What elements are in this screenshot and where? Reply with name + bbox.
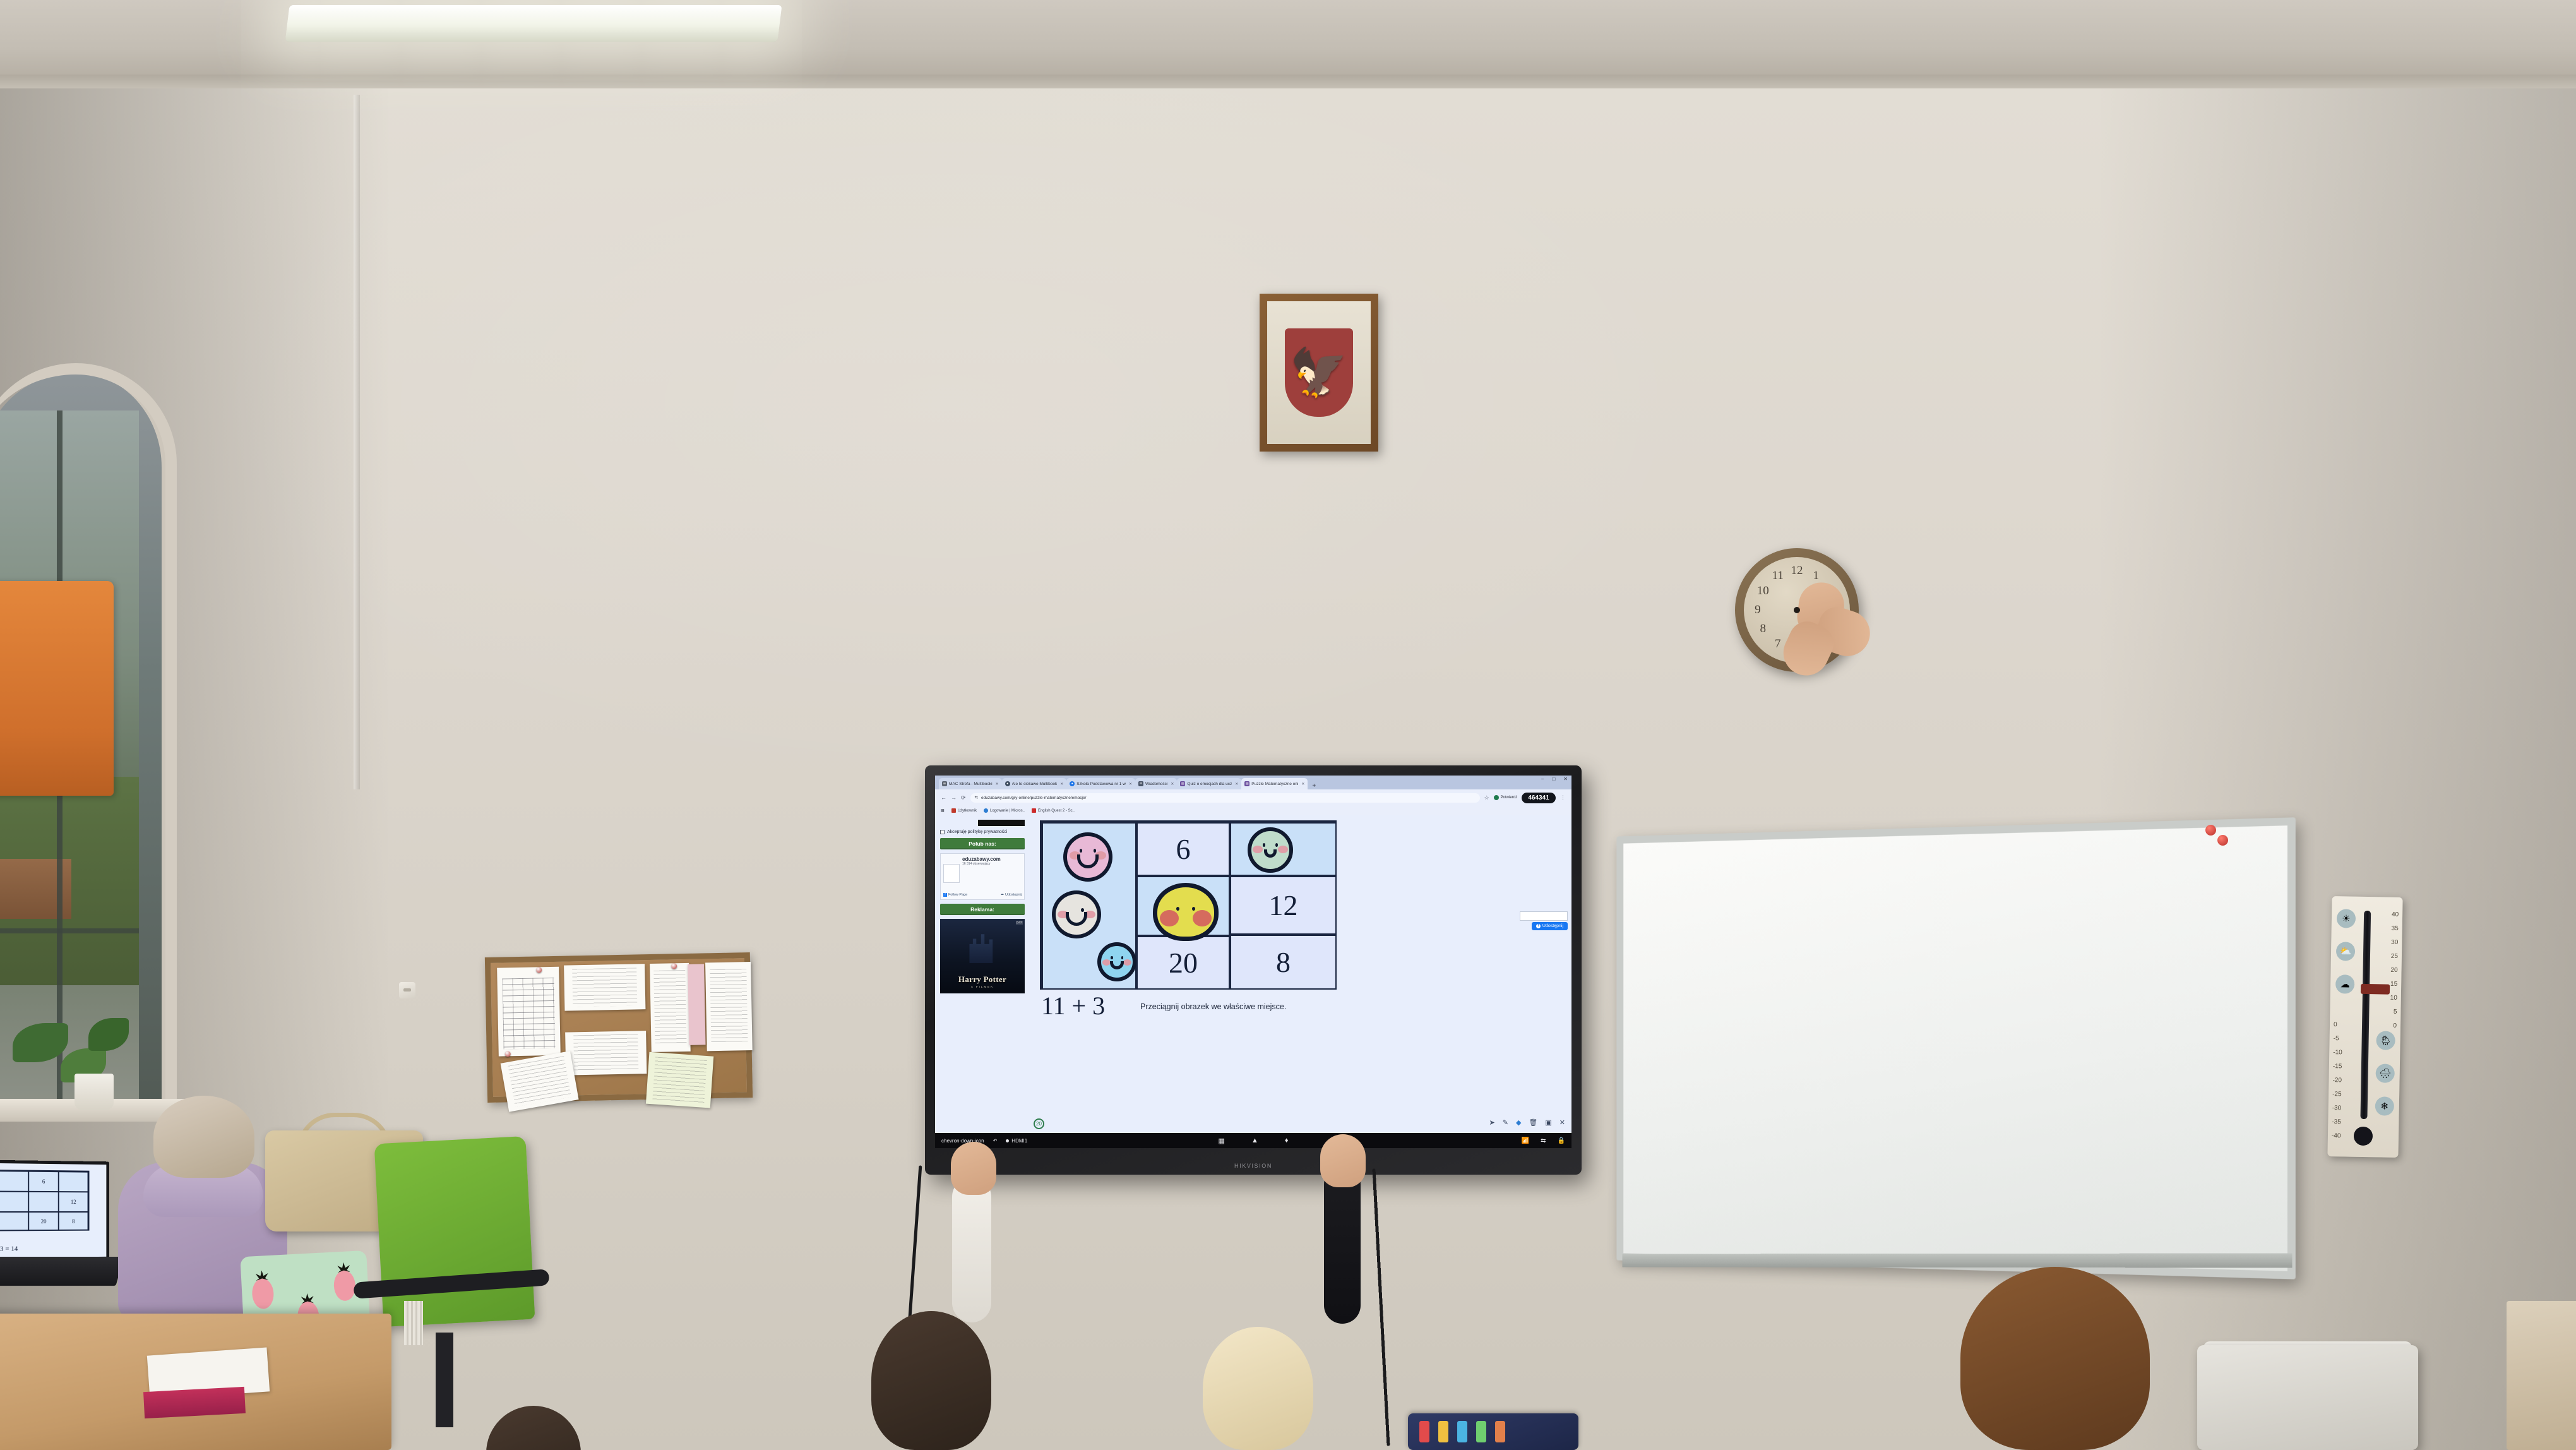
whiteboard-magnet [2217,835,2228,846]
puzzle-number: 12 [1269,889,1298,922]
thermometer-bulb [2354,1127,2373,1146]
noticeboard-calendar-1 [564,964,645,1010]
profile-chip[interactable]: Potwierdź [1494,795,1517,800]
pineapple-motif [251,1278,274,1310]
pencil-case-stripe [1438,1421,1448,1442]
raised-arm [952,1177,991,1322]
thermo-tick: -20 [2332,1077,2342,1084]
noticeboard [485,952,753,1103]
wall-thermometer: ☀ ⛅ ☁ 🌦 🌧 ❄ 40 35 30 25 20 15 10 5 0 0 -… [2327,896,2402,1158]
thermo-tick: 5 [2394,1009,2397,1016]
whiteboard [1616,817,2295,1279]
smile [1077,854,1099,868]
clock-numeral: 12 [1791,564,1803,578]
bookmark-item[interactable]: Użytkownik [951,808,977,813]
screenshot-icon[interactable]: ▣ [1545,1118,1551,1127]
lock-icon[interactable]: 🔒 [1558,1137,1565,1144]
display-os-bar[interactable]: chevron-down-icon ↶ HDMI1 ▦ ▲ ♦ 📶 ⇆ 🔒 [935,1133,1571,1148]
cheek [1160,910,1179,927]
laptop-cell [0,1171,28,1192]
os-bar-left[interactable]: chevron-down-icon ↶ HDMI1 [941,1138,1027,1144]
math-puzzle-board[interactable]: 6 12 20 8 [1040,820,1337,991]
highlighter-icon[interactable]: ◆ [1516,1118,1521,1127]
redacted-bar [978,820,1025,826]
thermo-tick: -30 [2332,1105,2342,1111]
noticeboard-sticker-strip [688,964,705,1045]
privacy-checkbox[interactable] [940,830,945,834]
noticeboard-paper-schedule [497,967,561,1057]
mail-icon: ✉ [1138,781,1143,786]
noticeboard-calendar-2 [565,1031,647,1075]
eye [1176,907,1179,911]
ad-castle-graphic [965,930,999,963]
adult-hair [153,1096,254,1178]
bookmark-label: Użytkownik [958,809,977,813]
laptop-mini-puzzle: 6 12 20 8 [0,1170,89,1231]
hdmi-label: HDMI1 [1011,1138,1027,1144]
apps-grid-icon[interactable]: ▦ [1219,1137,1225,1145]
clock-face: 12 1 2 3 4 5 6 7 8 9 10 11 [1744,557,1850,663]
back-arrow-icon[interactable]: ↶ [993,1138,998,1144]
form-icon: ▤ [1180,781,1185,786]
browser-tab-active[interactable]: ▤ Puzzle Matematyczne oni ✕ [1241,778,1308,789]
student-head [871,1311,991,1450]
tab-label: Ale to ciekawe Multibook [1012,782,1058,786]
bookmarks-bar[interactable]: ▦ Użytkownik Logowanie | Micros.. Englis… [935,806,1571,815]
os-bar-center[interactable]: ▦ ▲ ♦ [1219,1137,1289,1145]
ad-subtitle: A FILMEK [971,985,994,988]
webpage-content[interactable]: Akceptuję politykę prywatności Polub nas… [935,815,1571,1133]
bookmark-item[interactable]: English Quest 2 - Sc.. [1032,808,1075,813]
window-controls[interactable]: − □ ✕ [1541,776,1568,782]
share-label: Udostępnij [1542,924,1563,928]
puzzle-number: 20 [1169,946,1198,980]
laptop-cell: 20 [28,1212,59,1231]
thermo-tick: -5 [2334,1035,2339,1042]
clock-numeral: 11 [1772,569,1784,583]
apps-grid-icon[interactable]: ▦ [941,808,945,813]
raised-arm [1324,1166,1361,1324]
bookmark-label: English Quest 2 - Sc.. [1038,809,1075,813]
url-text: eduzabawy.com/gry-online/puzzle-matematy… [981,796,1086,800]
close-icon[interactable]: ✕ [1171,782,1174,786]
facebook-icon: f [1536,924,1541,928]
puzzle-cell-r2c3[interactable]: 12 [1230,876,1337,935]
sun-icon: ☀ [2337,909,2356,928]
thermometer-reading-marker [2361,984,2390,995]
clock-center-pin [1794,607,1800,613]
ad-title: Harry Potter [958,974,1006,985]
eagle-icon: 🦅 [1290,349,1348,396]
clock-numeral: 10 [1757,584,1769,598]
tab-label: Szkoła Podstawowa nr 1 w [1076,782,1126,786]
thermo-tick: -15 [2333,1063,2342,1070]
clock-numeral: 1 [1813,569,1819,583]
pencil-case-stripe [1457,1421,1467,1442]
facebook-page-name: eduzabawy.com [962,856,1022,862]
thermo-tick: 35 [2392,925,2399,932]
privacy-label: Akceptuję politykę prywatności [947,830,1007,834]
browser-tab[interactable]: ▤ Quiz o emocjach dla ucz ✕ [1177,778,1241,789]
back-arrow-icon[interactable]: ← [941,794,946,801]
cloud-icon: ☁ [2335,974,2355,994]
thermo-tick: 40 [2392,911,2399,918]
facebook-thumbnail [943,864,960,883]
chair-column [436,1333,453,1427]
pencil-case [1408,1413,1578,1450]
laptop-cell: 6 [28,1171,59,1192]
thermo-tick: 10 [2390,995,2397,1002]
sun-cloud-icon: ⛅ [2336,942,2356,961]
advertisement-header: Reklama: [940,904,1025,915]
eye [1263,843,1265,846]
laptop-cell: 8 [59,1212,88,1231]
display-brand-label: HIKVISION [1234,1163,1272,1169]
student-front-left [871,1286,1035,1450]
page-sidebar[interactable]: Akceptuję politykę prywatności Polub nas… [935,815,1030,1133]
thermo-tick: 0 [2393,1022,2397,1029]
share-arrow-icon: ➦ [1001,893,1004,897]
thermo-tick: -35 [2332,1118,2341,1125]
snow-icon: ❄ [2375,1096,2395,1116]
puzzle-number: 6 [1176,832,1191,866]
student-front-center [1203,1292,1392,1450]
book-icon: ☰ [942,781,947,786]
address-bar[interactable]: ⇆ eduzabawy.com/gry-online/puzzle-matema… [970,793,1480,803]
score-badge: 464341 [1522,793,1556,803]
close-icon[interactable]: ✕ [996,782,999,786]
laptop-cell [28,1192,59,1212]
bookmark-favicon [951,808,956,813]
noticeboard-document-2 [705,962,753,1051]
kebab-menu-icon[interactable]: ⋮ [1560,794,1566,801]
facebook-follow-label: Follow Page [948,893,967,897]
display-screen[interactable]: ☰ MAC Strefa - Multibooki ✕ ● Ale to cie… [935,776,1571,1148]
pointer-icon[interactable]: ➤ [1489,1118,1495,1127]
raised-hand [951,1142,996,1195]
close-icon[interactable]: ✕ [1129,782,1132,786]
bookmark-favicon [984,808,988,813]
pencil-case-stripe [1495,1421,1505,1442]
home-icon[interactable]: ▲ [1251,1137,1258,1144]
wall-corner [354,95,360,789]
thermo-tick: -25 [2332,1091,2342,1098]
bookmark-label: Logowanie | Micros.. [990,809,1025,813]
cheek [1123,959,1131,966]
cheek [1193,910,1212,927]
annotation-toolbar[interactable]: ➤ ✎ ◆ 🗑 ▣ ✕ [1489,1118,1566,1127]
page-counter-badge: 20 [1034,1118,1044,1129]
privacy-consent-row[interactable]: Akceptuję politykę prywatności [940,830,1025,834]
ad-choices-icon[interactable]: ▷D [1016,921,1023,925]
browser-tab[interactable]: ● Ale to ciekawe Multibook ✕ [1002,778,1067,789]
laptop-cell [0,1192,28,1212]
polish-coat-of-arms-frame: 🦅 [1260,294,1378,452]
laptop-cell [59,1171,88,1192]
student-far-left-partial [486,1381,587,1450]
bookmark-item[interactable]: Logowanie | Micros.. [984,808,1025,813]
eye [1192,907,1195,911]
profile-label: Potwierdź [1501,796,1517,800]
pencil-case-stripe [1476,1421,1486,1442]
emoji-tile-pink[interactable] [1063,832,1112,882]
browser-omnibar[interactable]: ← → ⟳ ⇆ eduzabawy.com/gry-online/puzzle-… [935,789,1571,806]
close-icon[interactable]: ✕ [1060,782,1063,786]
facebook-share-label: Udostępnij [1005,893,1022,897]
noticeboard-document-1 [650,963,691,1052]
tab-label: Quiz o emocjach dla ucz [1187,782,1232,786]
student-head [486,1406,581,1450]
facebook-follow-button[interactable]: f Follow Page [943,893,967,897]
pineapple-motif [333,1270,356,1302]
minimize-button[interactable]: − [1541,776,1544,782]
cheek [1253,846,1263,853]
new-tab-button[interactable]: + [1308,782,1320,789]
share-widget[interactable]: f Udostępnij [1520,911,1568,930]
emoji-tile-yellow-large[interactable] [1153,883,1219,941]
thermo-tick: -10 [2333,1049,2342,1056]
form-icon: ▤ [1244,781,1249,786]
teacher-laptop-lid[interactable]: 6 12 20 8 + 3 = 14 [0,1160,109,1262]
cheek [1278,846,1288,853]
pushpin [505,1051,511,1057]
clock-numeral: 7 [1775,637,1781,651]
wall-clock: 12 1 2 3 4 5 6 7 8 9 10 11 [1735,548,1859,672]
whiteboard-ghost-writing [1705,964,1714,1007]
shower-icon: 🌧 [2375,1064,2395,1083]
interactive-flat-panel[interactable]: ☰ MAC Strefa - Multibooki ✕ ● Ale to cie… [925,765,1582,1175]
emblem-shield: 🦅 [1285,328,1353,417]
profile-avatar [1494,795,1499,800]
whiteboard-magnet [2205,825,2216,836]
activity-area[interactable]: 6 12 20 8 [1030,815,1571,1133]
eye [1275,843,1278,846]
student-head [1960,1267,2150,1450]
puzzle-number: 8 [1276,945,1291,979]
radiator [404,1301,423,1345]
emblem-mat: 🦅 [1267,301,1371,444]
facebook-followers: 16 314 obserwujący [962,862,1022,866]
emoji-tile-mint[interactable] [1248,827,1293,873]
bookmark-favicon [1032,808,1036,813]
clock-numeral: 9 [1755,603,1761,617]
thermo-tick: 15 [2390,981,2397,988]
green-office-chair [374,1136,535,1327]
laptop-equation: + 3 = 14 [0,1245,18,1253]
close-icon[interactable]: ✕ [1559,1118,1565,1127]
clock-numeral: 8 [1760,622,1766,636]
close-window-button[interactable]: ✕ [1563,776,1568,782]
pencil-case-stripe [1419,1421,1429,1442]
instruction-text: Przeciągnij obrazek we właściwe miejsce. [1140,1002,1286,1011]
tab-label: Puzzle Matematyczne oni [1251,782,1298,786]
browser-tabstrip[interactable]: ☰ MAC Strefa - Multibooki ✕ ● Ale to cie… [935,776,1571,789]
globe-icon: ● [1070,781,1075,786]
close-icon[interactable]: ✕ [1235,782,1238,786]
ceiling-light [285,5,782,42]
browser-tab[interactable]: ☰ MAC Strefa - Multibooki ✕ [939,778,1002,789]
laptop-cell [0,1212,28,1231]
forward-arrow-icon[interactable]: → [951,794,957,801]
side-cabinet [2507,1301,2576,1450]
eye [1111,956,1113,959]
os-bar-right[interactable]: 📶 ⇆ 🔒 [1522,1137,1565,1144]
source-dot-icon [1006,1139,1009,1142]
student-head [1203,1327,1313,1450]
share-input[interactable] [1520,911,1568,921]
page-info-icon[interactable]: ⇆ [975,795,978,800]
equation-text: 11 + 3 [1041,991,1105,1021]
thermo-tick: 30 [2391,939,2398,946]
thermo-tick: 20 [2390,967,2397,974]
facebook-share-float-button[interactable]: f Udostępnij [1532,922,1568,930]
smile [1066,912,1087,926]
eye [1081,908,1084,912]
volume-icon[interactable]: ♦ [1285,1137,1289,1144]
classroom-scene: 🦅 12 1 2 3 4 5 6 7 8 9 10 11 ☀ ⛅ ☁ 🌦 [0,0,2576,1450]
whiteboard-ghost-writing [1758,1031,1767,1073]
orange-window-blind [0,581,114,796]
window-mullion-horizontal [0,928,139,933]
input-source-label[interactable]: HDMI1 [1006,1138,1027,1144]
facebook-page-widget[interactable]: eduzabawy.com 16 314 obserwujący f Follo… [940,853,1025,900]
wall-power-socket[interactable] [399,982,415,998]
puzzle-cell-r1c2[interactable]: 6 [1136,822,1230,876]
puzzle-grid[interactable]: 6 12 20 8 [1040,820,1337,990]
puzzle-cell-r3c3[interactable]: 8 [1230,935,1337,990]
follow-us-header: Polub nas: [940,838,1025,849]
whiteboard-pen-tray [1623,1254,2293,1268]
tab-label: MAC Strefa - Multibooki [949,782,993,786]
thermo-tick: 25 [2391,953,2398,960]
noticeboard-vocab-list [646,1052,713,1108]
input-switch-icon[interactable]: ⇆ [1541,1137,1546,1144]
emoji-tile-white[interactable] [1052,890,1101,938]
bookmark-star-icon[interactable]: ☆ [1484,794,1489,801]
eye [1080,849,1083,853]
laptop-cell: 12 [59,1192,88,1212]
thermometer-tube [2360,911,2371,1119]
desk-notebook [143,1387,246,1418]
smile [1264,849,1276,858]
emoji-tile-blue[interactable] [1097,942,1136,981]
thermo-tick: 0 [2334,1021,2337,1028]
tab-label: Wiadomości [1145,782,1167,786]
eraser-icon[interactable]: 🗑 [1529,1118,1537,1127]
facebook-actions[interactable]: f Follow Page ➦ Udostępnij [943,893,1022,897]
facebook-share-button[interactable]: ➦ Udostępnij [1001,893,1022,897]
raised-hand [1320,1134,1366,1187]
student-front-right [1960,1248,2162,1450]
pen-icon[interactable]: ✎ [1503,1118,1508,1127]
maximize-button[interactable]: □ [1552,776,1555,782]
smile [1110,961,1124,969]
globe-icon: ● [1005,781,1010,786]
eye [1094,849,1097,853]
puzzle-cell-r3c2[interactable]: 20 [1136,936,1230,990]
browser-tab[interactable]: ● Szkoła Podstawowa nr 1 w ✕ [1066,778,1135,789]
facebook-icon: f [943,893,947,897]
reload-icon[interactable]: ⟳ [961,794,966,801]
wifi-icon[interactable]: 📶 [1522,1137,1529,1144]
advertisement-banner[interactable]: ▷D Harry Potter A FILMEK [940,919,1025,993]
thermo-tick: -40 [2332,1132,2341,1139]
rain-icon: 🌦 [2376,1031,2395,1050]
printer [2197,1345,2418,1450]
laptop-screen[interactable]: 6 12 20 8 + 3 = 14 [0,1163,106,1258]
browser-tab[interactable]: ✉ Wiadomości ✕ [1135,778,1177,789]
close-icon[interactable]: ✕ [1301,782,1304,786]
eye [1121,956,1124,959]
